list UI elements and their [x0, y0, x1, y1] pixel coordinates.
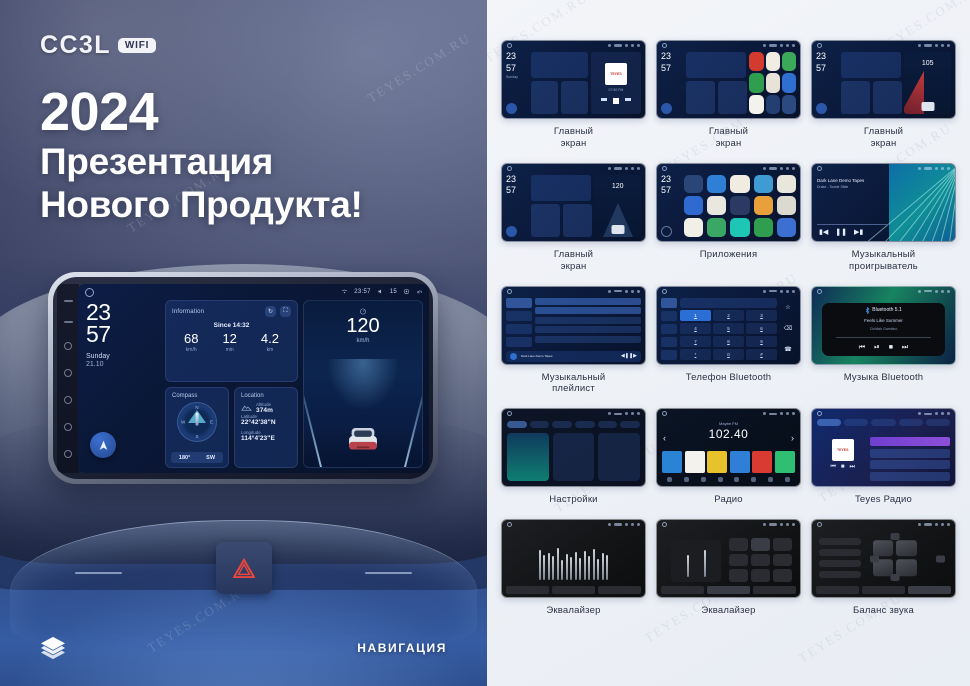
balance-left-button[interactable]	[870, 555, 879, 562]
player-track: Dark Lane Demo Tapes	[521, 354, 552, 358]
compass-readout: 180° SW	[171, 452, 223, 463]
eq-band[interactable]	[588, 556, 590, 581]
app-icon	[730, 175, 749, 194]
treble-slider[interactable]	[704, 550, 706, 577]
preset-button[interactable]	[751, 569, 770, 582]
dialpad-key[interactable]: 5	[713, 323, 744, 334]
tab-apps[interactable]	[575, 421, 595, 428]
navigation-fab-button	[506, 103, 517, 114]
gear-icon[interactable]	[403, 288, 410, 295]
sidebar-item-albums[interactable]	[506, 324, 532, 334]
player-controls[interactable]: ◀❚❚▶	[621, 353, 637, 359]
thumbnail-radio[interactable]: Maybe FM 102.40 ‹ ›	[656, 408, 801, 487]
sidebar-item-artists[interactable]	[506, 311, 532, 321]
tab-wlan[interactable]	[507, 421, 527, 428]
tab-balance[interactable]	[908, 586, 951, 594]
clock-widget[interactable]: 23 57 Sunday 21.10	[84, 300, 160, 468]
preset-button[interactable]	[751, 538, 770, 551]
home-icon[interactable]	[85, 288, 94, 297]
speed-value: 120	[594, 183, 641, 190]
preset-button[interactable]	[775, 451, 795, 473]
dialpad[interactable]: 1 2 3 4 5 6 7 8 9 * 0 #	[680, 310, 777, 360]
radio-presets[interactable]	[662, 451, 795, 473]
next-icon[interactable]: ▶▮	[854, 228, 863, 236]
key-power-icon[interactable]	[64, 300, 73, 302]
balance-down-button[interactable]	[890, 574, 899, 581]
sidebar-item-search[interactable]	[661, 324, 677, 334]
eq-band[interactable]	[602, 553, 604, 580]
tab-system[interactable]	[620, 421, 640, 428]
toolbar-band-icon[interactable]	[667, 477, 672, 482]
caption-line-2: экран	[864, 138, 903, 150]
preset-button[interactable]	[819, 538, 861, 545]
preset-button[interactable]	[751, 554, 770, 567]
clock-weekday: Sunday	[86, 352, 158, 361]
dialpad-key[interactable]: 4	[680, 323, 711, 334]
home-icon	[662, 43, 667, 48]
thumbnail-equalizer-simple[interactable]	[656, 519, 801, 598]
dialpad-key[interactable]: 3	[746, 310, 777, 321]
dialpad-key[interactable]: 2	[713, 310, 744, 321]
clock-weekday: Sunday	[506, 75, 528, 79]
dialpad-key[interactable]: 8	[713, 336, 744, 347]
clock-hours: 23	[816, 52, 838, 61]
app-icon	[707, 196, 726, 215]
altitude-row: Altitude 374m	[241, 402, 291, 414]
home-icon	[507, 522, 512, 527]
balance-up-button[interactable]	[890, 533, 899, 540]
list-item[interactable]	[535, 326, 641, 333]
next-icon[interactable]: ⏭	[850, 464, 855, 471]
balance-right-button[interactable]	[936, 555, 945, 562]
player-controls[interactable]: ⏮ ■ ⏭	[831, 464, 855, 471]
tab-display[interactable]	[552, 421, 572, 428]
gallery-tile[interactable]: 1 2 3 4 5 6 7 8 9 * 0 #	[656, 286, 801, 396]
home-icon	[507, 166, 512, 171]
caption-line-1: Приложения	[700, 249, 758, 261]
tune-down-icon[interactable]: ‹	[663, 433, 666, 443]
dialpad-key[interactable]: *	[680, 349, 711, 360]
tab-eq[interactable]	[816, 586, 859, 594]
thumbnail-equalizer-bars[interactable]	[501, 519, 646, 598]
thumbnail-bluetooth-music[interactable]: Bluetooth 5.1 Feels Like Summer Childish…	[811, 286, 956, 365]
watermark: TEYES.COM.RU	[365, 30, 474, 106]
equalizer-tabs[interactable]	[506, 586, 641, 594]
thumb-status-bar	[502, 520, 645, 529]
equalizer-tabs[interactable]	[661, 586, 796, 594]
gallery-tile[interactable]: Dark Lane Demo Tapes Drake - Toosie Slid…	[811, 163, 956, 273]
stat-unit: km/h	[184, 347, 198, 353]
thumb-status-bar	[812, 409, 955, 418]
eq-band[interactable]	[543, 555, 545, 581]
tile-caption: Главный экран	[554, 126, 593, 150]
dialpad-key[interactable]: #	[746, 349, 777, 360]
sidebar-item-recents[interactable]	[661, 337, 677, 347]
tab-fader[interactable]	[552, 586, 595, 594]
screenshot-gallery: TEYES.COM.RU TEYES.COM.RU TEYES.COM.RU T…	[487, 0, 970, 686]
tile-caption: Главный экран	[864, 126, 903, 150]
eq-band[interactable]	[597, 559, 599, 580]
tile-caption: Приложения	[700, 249, 758, 261]
app-icon	[754, 196, 773, 215]
headline-line-1: Презентация	[40, 141, 363, 184]
tile-caption: Teyes Радио	[855, 494, 912, 506]
eq-band[interactable]	[552, 556, 554, 580]
home-icon	[817, 166, 822, 171]
thumb-status-bar	[657, 287, 800, 296]
eq-band[interactable]	[584, 551, 586, 580]
sidebar-item-tracks[interactable]	[506, 298, 532, 308]
hero-headline: 2024 Презентация Нового Продукта!	[40, 84, 363, 227]
refresh-icon[interactable]: ↻	[265, 306, 276, 317]
clock-hours: 23	[506, 175, 528, 184]
car-dashboard: 23:57 15	[0, 250, 487, 686]
tab-history[interactable]	[926, 419, 950, 426]
thumbnail-sound-balance[interactable]	[811, 519, 956, 598]
gallery-tile[interactable]: Настройки	[501, 408, 646, 506]
thumb-content: 1 2 3 4 5 6 7 8 9 * 0 #	[661, 298, 796, 360]
bass-slider[interactable]	[687, 555, 689, 577]
dialpad-key[interactable]: 6	[746, 323, 777, 334]
tab-fader[interactable]	[862, 586, 905, 594]
headline-year: 2024	[40, 84, 363, 141]
home-icon	[817, 411, 822, 416]
tab-eq[interactable]	[661, 586, 704, 594]
thumb-status-bar	[657, 41, 800, 50]
stat-item: 4.2 km	[261, 332, 279, 353]
radio-toolbar[interactable]	[661, 475, 796, 484]
progress-bar[interactable]	[817, 224, 889, 225]
home-icon	[662, 289, 667, 294]
preset-button[interactable]	[685, 451, 705, 473]
toolbar-list-icon[interactable]	[701, 477, 706, 482]
player-controls[interactable]: ▮◀ ❚❚ ▶▮	[819, 228, 863, 236]
stat-item: 68 km/h	[184, 332, 198, 353]
information-widget	[841, 52, 901, 78]
list-item[interactable]	[535, 307, 641, 314]
equalizer-tabs[interactable]	[816, 586, 951, 594]
dialer-display[interactable]	[680, 298, 777, 308]
navigation-arrow-icon	[97, 439, 110, 452]
caption-line-1: Телефон Bluetooth	[686, 372, 772, 384]
thumb-status-bar	[812, 41, 955, 50]
dialpad-key[interactable]: 0	[713, 349, 744, 360]
caption-line-1: Музыкальный	[849, 249, 918, 261]
stat-unit: km	[261, 347, 279, 353]
app-icon	[754, 218, 773, 237]
teyes-radio-tabs[interactable]	[817, 419, 950, 426]
gallery-tile[interactable]: Эквалайзер	[656, 519, 801, 617]
key-volume-up-icon[interactable]	[64, 450, 72, 458]
thumbnail-teyes-radio[interactable]: TEYES ⏮ ■ ⏭	[811, 408, 956, 487]
clock-minutes: 57	[86, 324, 158, 346]
tab-tone[interactable]	[598, 586, 641, 594]
gallery-tile[interactable]: Maybe FM 102.40 ‹ ›	[656, 408, 801, 506]
eq-band[interactable]	[575, 552, 577, 580]
list-item[interactable]	[870, 472, 950, 481]
thumb-status-bar	[502, 41, 645, 50]
eq-band[interactable]	[579, 558, 581, 580]
wifi-icon	[341, 288, 348, 295]
eq-band[interactable]	[606, 555, 608, 581]
preset-button[interactable]	[707, 451, 727, 473]
traffic-usage-card[interactable]	[553, 433, 595, 481]
speaker-front-right[interactable]	[896, 540, 917, 557]
eq-band[interactable]	[548, 553, 550, 580]
home-icon	[662, 411, 667, 416]
caption-line-1: Баланс звука	[853, 605, 914, 617]
preset-button[interactable]	[729, 538, 748, 551]
eq-band-group[interactable]	[506, 532, 641, 584]
dialpad-key[interactable]: 9	[746, 336, 777, 347]
head-unit-screen[interactable]: 23:57 15	[78, 284, 429, 473]
vent-slot-right	[365, 572, 412, 574]
gallery-tile[interactable]: Bluetooth 5.1 Feels Like Summer Childish…	[811, 286, 956, 396]
mountain-icon	[241, 403, 252, 412]
call-icon[interactable]: ☎	[784, 346, 791, 353]
preset-button[interactable]	[662, 451, 682, 473]
preset-button[interactable]	[819, 571, 861, 578]
key-home-icon[interactable]	[64, 369, 72, 377]
thumbnail-bluetooth-phone[interactable]: 1 2 3 4 5 6 7 8 9 * 0 #	[656, 286, 801, 365]
key-mute-icon[interactable]	[64, 321, 73, 323]
tile-caption: Эквалайзер	[546, 605, 600, 617]
compass-heading: 180°	[179, 455, 190, 461]
preset-button[interactable]	[752, 451, 772, 473]
back-icon[interactable]	[416, 288, 423, 295]
compass-widget[interactable]: Compass N S W E 180° SW	[165, 387, 229, 469]
toolbar-settings-icon[interactable]	[768, 477, 773, 482]
eq-band[interactable]	[593, 549, 595, 580]
gallery-tile[interactable]: 23 57	[656, 40, 801, 150]
app-icon	[766, 95, 780, 114]
preset-button[interactable]	[773, 554, 792, 567]
thumbnail-settings[interactable]	[501, 408, 646, 487]
caption-line-2: проигрыватель	[849, 261, 918, 273]
list-item[interactable]	[535, 336, 641, 343]
preset-button[interactable]	[819, 549, 861, 556]
tab-eq[interactable]	[506, 586, 549, 594]
dialpad-key[interactable]: 1	[680, 310, 711, 321]
tile-caption: Радио	[714, 494, 742, 506]
stop-icon[interactable]: ■	[841, 464, 845, 471]
status-bar: 23:57 15	[341, 288, 423, 295]
speaker-front-left[interactable]	[873, 540, 894, 557]
hero-footer: НАВИГАЦИЯ	[0, 636, 487, 660]
thumb-status-bar	[502, 164, 645, 173]
music-visualizer	[889, 164, 955, 241]
thumbnail-home-apps[interactable]: 23 57	[656, 40, 801, 119]
tab-fader[interactable]	[707, 586, 750, 594]
toolbar-eq-icon[interactable]	[785, 477, 790, 482]
next-icon[interactable]: ⏭	[902, 344, 908, 352]
tab-personal[interactable]	[598, 421, 618, 428]
compass-title: Compass	[172, 393, 222, 399]
gallery-tile[interactable]: 23 57 120	[501, 163, 646, 273]
information-actions[interactable]: ↻ ⛶	[265, 306, 291, 317]
eq-band[interactable]	[561, 560, 563, 580]
bluetooth-icon	[865, 307, 870, 314]
location-title: Location	[241, 393, 291, 399]
tab-tone[interactable]	[753, 586, 796, 594]
preset-button[interactable]	[730, 451, 750, 473]
bluetooth-version: Bluetooth 5.1	[865, 307, 901, 314]
preset-button[interactable]	[729, 554, 748, 567]
list-item[interactable]	[535, 317, 641, 324]
key-settings-icon[interactable]	[64, 342, 72, 350]
driving-widget[interactable]: 120 km/h	[303, 300, 423, 468]
list-item[interactable]	[870, 437, 950, 446]
previous-icon[interactable]: ▮◀	[819, 228, 828, 236]
information-widget[interactable]: Information ↻ ⛶ Since 14:32 68 km	[165, 300, 298, 382]
clock-minutes: 57	[661, 186, 681, 195]
location-widget[interactable]: Location Altitude 374m	[234, 387, 298, 469]
sidebar-item-settings[interactable]	[661, 350, 677, 360]
tile-caption: Музыка Bluetooth	[844, 372, 924, 384]
information-header: Information ↻ ⛶	[172, 306, 291, 317]
toolbar-st-icon[interactable]	[734, 477, 739, 482]
tile-caption: Музыкальный проигрыватель	[849, 249, 918, 273]
tile-caption: Настройки	[549, 494, 597, 506]
gallery-tile[interactable]: 23 57	[656, 163, 801, 273]
hazard-light-button[interactable]	[216, 542, 272, 594]
dialer-actions[interactable]: ☆ ⌫ ☎	[780, 298, 796, 360]
vent-slot-left	[75, 572, 122, 574]
phone-sidebar[interactable]	[661, 298, 677, 360]
toolbar-dx-icon[interactable]	[718, 477, 723, 482]
tune-up-icon[interactable]: ›	[791, 433, 794, 443]
thumbnail-apps[interactable]: 23 57	[656, 163, 801, 242]
layers-icon[interactable]	[40, 636, 66, 660]
home-icon	[817, 43, 822, 48]
dialpad-key[interactable]: 7	[680, 336, 711, 347]
app-icon	[766, 52, 780, 71]
gallery-tile[interactable]: Эквалайзер	[501, 519, 646, 617]
information-widget	[531, 175, 591, 201]
balance-presets[interactable]	[819, 538, 861, 578]
head-unit: 23:57 15	[48, 272, 438, 484]
status-icons	[763, 44, 795, 47]
tab-live[interactable]	[817, 419, 841, 426]
sidebar-item-folders[interactable]	[506, 337, 532, 347]
speed-unit: km/h	[304, 338, 422, 344]
tab-sound[interactable]	[530, 421, 550, 428]
tab-genres[interactable]	[844, 419, 868, 426]
caption-line-1: Эквалайзер	[546, 605, 600, 617]
key-back-icon[interactable]	[64, 396, 72, 404]
equalizer-sliders[interactable]	[506, 532, 641, 584]
thumbnail-music-player[interactable]: Dark Lane Demo Tapes Drake - Toosie Slid…	[811, 163, 956, 242]
sidebar-item-contacts[interactable]	[661, 311, 677, 321]
preset-button[interactable]	[773, 569, 792, 582]
compass-widget	[531, 81, 558, 114]
play-pause-icon[interactable]: ⏯	[874, 344, 880, 352]
expand-icon[interactable]: ⛶	[280, 306, 291, 317]
gallery-tile[interactable]: 23 57 105	[811, 40, 956, 150]
preset-grid[interactable]	[729, 538, 792, 582]
gallery-tile[interactable]: TEYES ⏮ ■ ⏭ Teyes Р	[811, 408, 956, 506]
tab-countries[interactable]	[871, 419, 895, 426]
thumb-status-bar	[812, 520, 955, 529]
app-icon	[749, 52, 763, 71]
bluetooth-player-card: Bluetooth 5.1 Feels Like Summer Childish…	[822, 303, 945, 356]
settings-tabs[interactable]	[507, 421, 640, 428]
dashboard-vent	[10, 520, 478, 650]
toolbar-ta-icon[interactable]	[751, 477, 756, 482]
backspace-icon[interactable]: ⌫	[784, 325, 792, 332]
app-icon	[684, 218, 703, 237]
location-widget	[718, 81, 747, 114]
eq-band[interactable]	[566, 554, 568, 580]
balance-pad[interactable]	[873, 540, 917, 576]
gallery-tile[interactable]: Баланс звука	[811, 519, 956, 617]
thumbnail-playlist[interactable]: Dark Lane Demo Tapes ◀❚❚▶	[501, 286, 646, 365]
list-item[interactable]	[870, 449, 950, 458]
eq-band[interactable]	[539, 550, 541, 580]
latitude-row: Latitude 22°42'38"N	[241, 414, 291, 426]
previous-icon[interactable]: ⏮	[831, 464, 836, 471]
status-volume: 15	[390, 289, 397, 295]
toolbar-search-icon[interactable]	[684, 477, 689, 482]
mini-player-bar[interactable]: Dark Lane Demo Tapes ◀❚❚▶	[506, 351, 641, 362]
location-widget	[873, 81, 902, 114]
thumbnail-home-speed[interactable]: 23 57 105	[811, 40, 956, 119]
eq-band[interactable]	[570, 557, 572, 580]
star-icon[interactable]: ☆	[785, 304, 790, 311]
pause-icon[interactable]: ❚❚	[835, 228, 847, 236]
thumbnail-home-music[interactable]: 23 57 Sunday	[501, 40, 646, 119]
tab-favorites[interactable]	[899, 419, 923, 426]
thumbnail-home-drive[interactable]: 23 57 120	[501, 163, 646, 242]
progress-bar[interactable]	[836, 337, 932, 338]
radio-frequency: 102.40	[657, 427, 800, 441]
eq-band[interactable]	[557, 548, 559, 580]
logo-text: CC3L	[40, 33, 111, 58]
app-icon	[782, 95, 796, 114]
navigation-fab-button[interactable]	[90, 432, 116, 458]
app-icon	[766, 73, 780, 92]
station-list[interactable]	[870, 437, 950, 481]
preset-button[interactable]	[773, 538, 792, 551]
tile-caption: Главный экран	[554, 249, 593, 273]
list-item[interactable]	[870, 460, 950, 469]
preset-button[interactable]	[819, 560, 861, 567]
more-card[interactable]	[598, 433, 640, 481]
tone-sliders[interactable]	[671, 540, 721, 582]
speed-value: 120	[304, 316, 422, 336]
speaker-rear-right[interactable]	[896, 559, 917, 576]
information-title: Information	[172, 309, 204, 315]
wifi-card[interactable]	[507, 433, 549, 481]
list-item[interactable]	[535, 298, 641, 305]
head-unit-hardkeys[interactable]	[57, 284, 79, 473]
previous-icon[interactable]: ⏮	[859, 344, 865, 352]
player-controls[interactable]: ⏮ ⏯ ■ ⏭	[859, 344, 908, 352]
information-since: Since 14:32	[172, 322, 291, 329]
gallery-tile[interactable]: 23 57 Sunday	[501, 40, 646, 150]
preset-button[interactable]	[729, 569, 748, 582]
app-icon	[684, 196, 703, 215]
settings-cards[interactable]	[507, 433, 640, 481]
app-icon	[707, 175, 726, 194]
speaker-grid[interactable]	[873, 540, 917, 576]
key-volume-down-icon[interactable]	[64, 423, 72, 431]
stop-icon[interactable]: ■	[889, 344, 893, 352]
sidebar-item-dialpad[interactable]	[661, 298, 677, 308]
caption-line-1: Настройки	[549, 494, 597, 506]
navigation-fab-button	[506, 226, 517, 237]
gallery-tile[interactable]: Dark Lane Demo Tapes ◀❚❚▶ Музыкальный пл…	[501, 286, 646, 396]
